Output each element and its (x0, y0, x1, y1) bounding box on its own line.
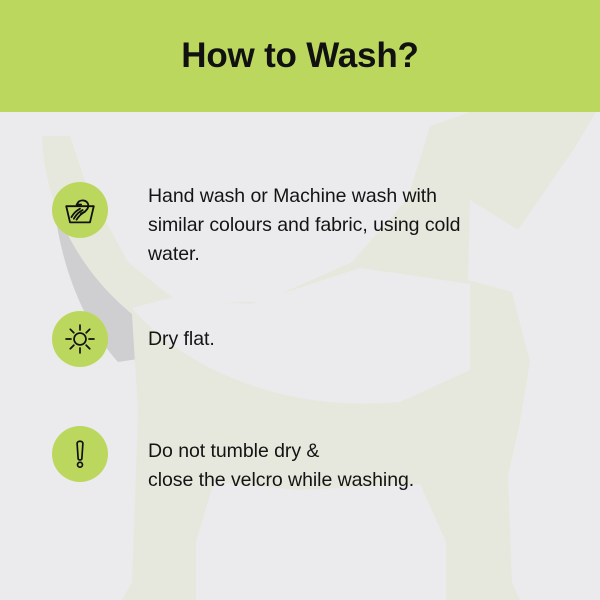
instruction-row-warning: Do not tumble dry & close the velcro whi… (52, 437, 414, 495)
instruction-text: Hand wash or Machine wash with similar c… (148, 182, 460, 269)
hand-wash-icon (52, 182, 108, 238)
instruction-text: Dry flat. (148, 325, 215, 354)
instruction-text: Do not tumble dry & close the velcro whi… (148, 437, 414, 495)
sun-glyph (62, 321, 98, 357)
exclamation-warning-icon (52, 426, 108, 482)
instruction-row-hand-wash: Hand wash or Machine wash with similar c… (52, 182, 460, 269)
wash-care-card: How to Wash? Hand wash or Machine (0, 0, 600, 600)
hand-wash-glyph (61, 191, 99, 229)
instruction-row-dry-flat: Dry flat. (52, 325, 215, 367)
sun-dry-flat-icon (52, 311, 108, 367)
instructions-list: Hand wash or Machine wash with similar c… (0, 112, 600, 600)
page-title: How to Wash? (0, 0, 600, 112)
exclamation-glyph (63, 437, 97, 471)
